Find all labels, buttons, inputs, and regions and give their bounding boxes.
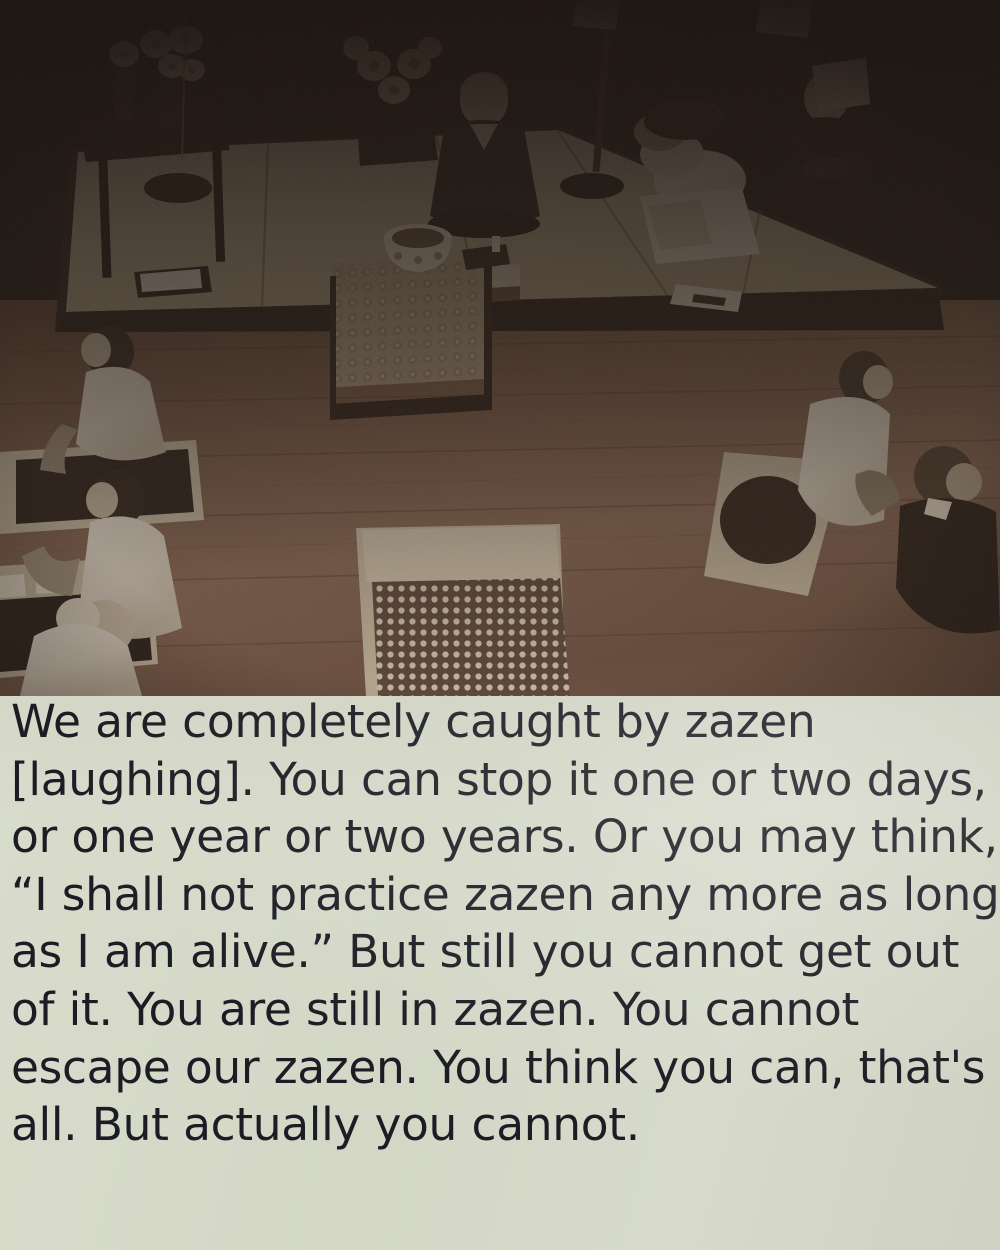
zendo-photo-illustration bbox=[0, 0, 1000, 696]
quote-text: We are completely caught by zazen [laugh… bbox=[11, 696, 1000, 1154]
zendo-photograph bbox=[0, 0, 1000, 696]
quote-panel: We are completely caught by zazen [laugh… bbox=[0, 696, 1000, 1250]
quote-card: We are completely caught by zazen [laugh… bbox=[0, 0, 1000, 1250]
